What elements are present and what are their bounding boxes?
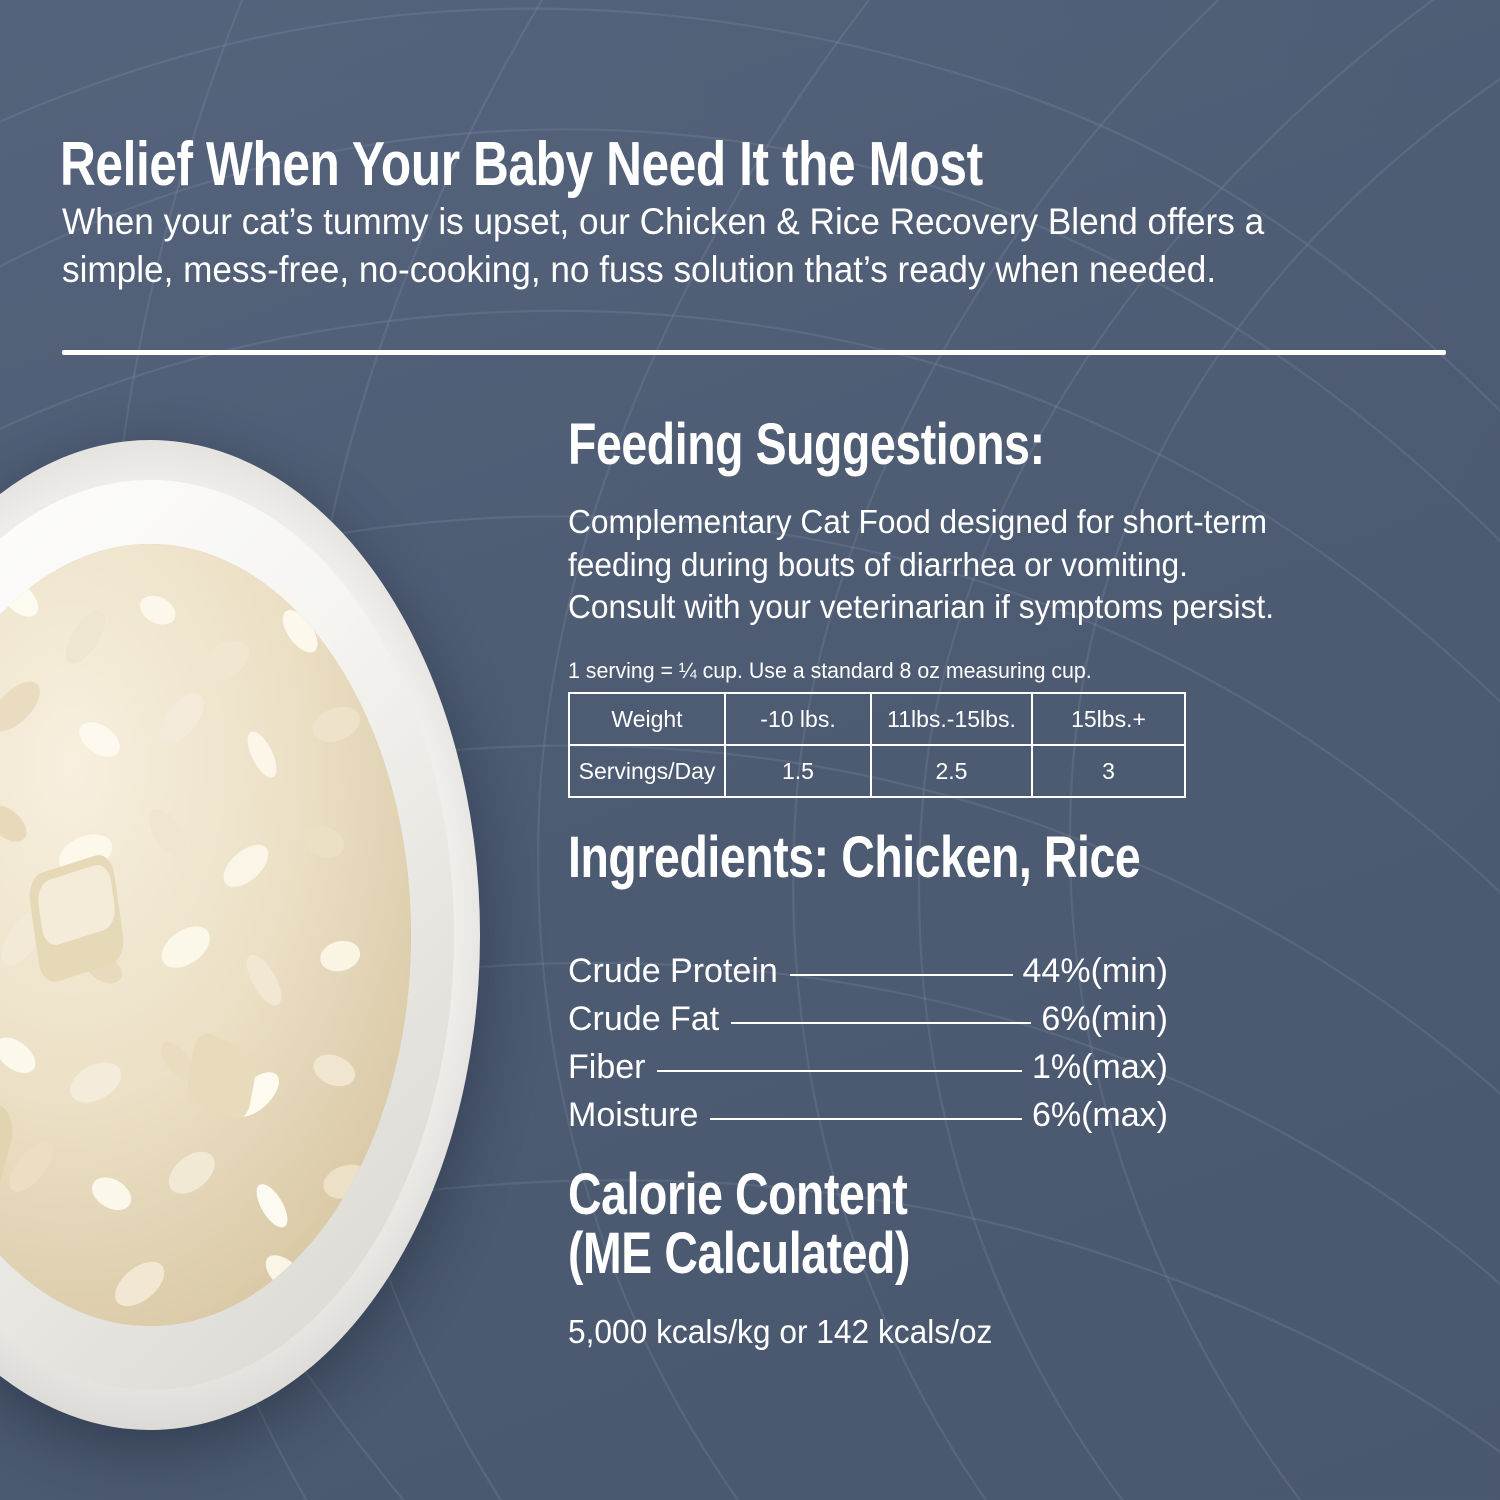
table-cell-servings-2: 2.5: [871, 745, 1032, 797]
feeding-suggestions-body: Complementary Cat Food designed for shor…: [568, 501, 1413, 628]
analysis-value: 44%(min): [1023, 954, 1168, 988]
analysis-row: Crude Fat 6%(min): [568, 995, 1168, 1043]
intro-paragraph: When your cat’s tummy is upset, our Chic…: [62, 198, 1316, 294]
table-row-servings: Servings/Day 1.5 2.5 3: [569, 745, 1185, 797]
feeding-body-line-1: Complementary Cat Food designed for shor…: [568, 501, 1413, 543]
feeding-body-line-2: feeding during bouts of diarrhea or vomi…: [568, 544, 1413, 586]
table-cell-weight-3: 15lbs.+: [1032, 693, 1185, 745]
feeding-suggestions-title: Feeding Suggestions:: [568, 415, 1272, 475]
guaranteed-analysis-list: Crude Protein 44%(min) Crude Fat 6%(min)…: [568, 947, 1168, 1139]
analysis-label: Moisture: [568, 1098, 698, 1132]
bowl-outer: [0, 440, 480, 1430]
feeding-chart-table: Weight -10 lbs. 11lbs.-15lbs. 15lbs.+ Se…: [568, 692, 1186, 798]
table-cell-weight-2: 11lbs.-15lbs.: [871, 693, 1032, 745]
analysis-value: 6%(min): [1041, 1002, 1168, 1036]
analysis-label: Crude Fat: [568, 1002, 719, 1036]
table-cell-weight-1: -10 lbs.: [725, 693, 871, 745]
feeding-body-line-3: Consult with your veterinarian if sympto…: [568, 586, 1413, 628]
header-divider: [62, 350, 1446, 355]
calorie-content-title: Calorie Content (ME Calculated): [568, 1165, 1272, 1283]
info-column: Feeding Suggestions: Complementary Cat F…: [568, 415, 1448, 1351]
leader-line: [790, 974, 1013, 976]
serving-size-note: 1 serving = ¼ cup. Use a standard 8 oz m…: [568, 658, 1422, 684]
calorie-title-line-2: (ME Calculated): [568, 1224, 1272, 1283]
product-photo: [0, 440, 480, 1440]
calorie-title-line-1: Calorie Content: [568, 1165, 1272, 1224]
leader-line: [710, 1118, 1022, 1120]
table-header-servings: Servings/Day: [569, 745, 725, 797]
analysis-value: 6%(max): [1032, 1098, 1168, 1132]
table-header-weight: Weight: [569, 693, 725, 745]
table-cell-servings-3: 3: [1032, 745, 1185, 797]
table-cell-servings-1: 1.5: [725, 745, 871, 797]
page-title: Relief When Your Baby Need It the Most: [60, 134, 1004, 196]
product-infographic: Relief When Your Baby Need It the Most W…: [0, 0, 1500, 1500]
intro-line-1: When your cat’s tummy is upset, our Chic…: [62, 198, 1316, 246]
analysis-row: Crude Protein 44%(min): [568, 947, 1168, 995]
analysis-value: 1%(max): [1032, 1050, 1168, 1084]
calorie-content-value: 5,000 kcals/kg or 142 kcals/oz: [568, 1313, 1413, 1351]
analysis-label: Crude Protein: [568, 954, 778, 988]
analysis-row: Moisture 6%(max): [568, 1091, 1168, 1139]
leader-line: [657, 1070, 1022, 1072]
table-row-weight: Weight -10 lbs. 11lbs.-15lbs. 15lbs.+: [569, 693, 1185, 745]
analysis-label: Fiber: [568, 1050, 645, 1084]
ingredients-title: Ingredients: Chicken, Rice: [568, 828, 1272, 888]
analysis-row: Fiber 1%(max): [568, 1043, 1168, 1091]
leader-line: [731, 1022, 1031, 1024]
intro-line-2: simple, mess-free, no-cooking, no fuss s…: [62, 246, 1316, 294]
